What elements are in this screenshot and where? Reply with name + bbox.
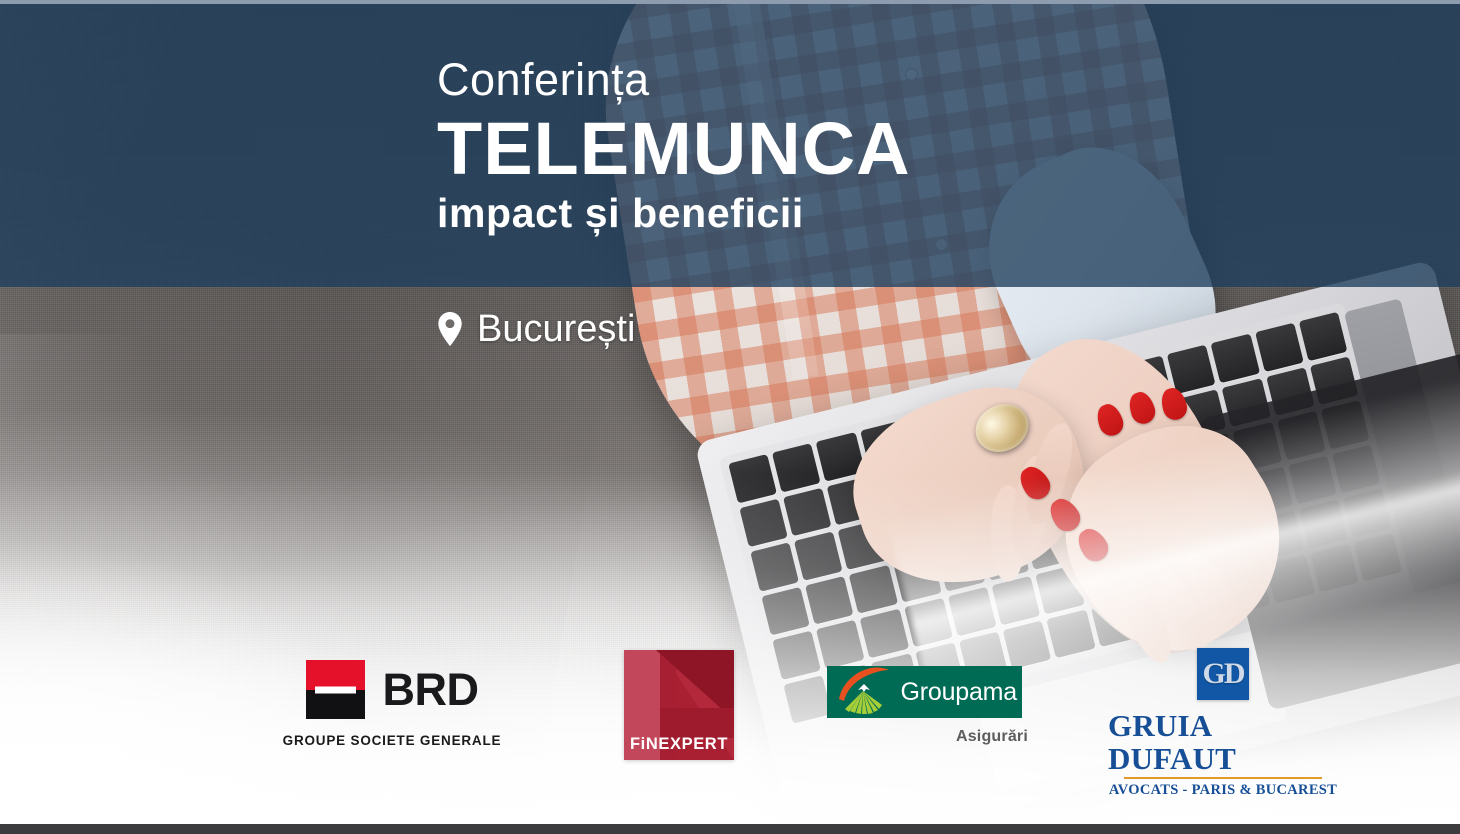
bottom-dark-strip xyxy=(0,824,1460,834)
sponsor-logo-row: BRD GROUPE SOCIETE GENERALE FiNEXPERT xyxy=(0,648,1460,788)
key xyxy=(948,587,997,636)
page-title: TELEMUNCA xyxy=(437,111,1460,186)
key xyxy=(783,487,832,536)
brd-wordmark: BRD xyxy=(383,667,479,712)
map-pin-icon xyxy=(437,312,463,346)
sponsor-gruia-dufaut[interactable]: GD GRUIA DUFAUT AVOCATS - PARIS & BUCARE… xyxy=(1108,648,1338,799)
key xyxy=(772,443,821,492)
event-kicker: Conferința xyxy=(437,56,1460,103)
brd-square-logo-icon xyxy=(306,660,365,719)
brd-tagline: GROUPE SOCIETE GENERALE xyxy=(283,733,502,748)
key xyxy=(750,542,799,591)
event-location: București xyxy=(437,310,635,348)
gd-monogram-logo-icon: GD xyxy=(1197,648,1249,700)
groupama-wordmark: Groupama xyxy=(901,680,1018,705)
event-subtitle: impact și beneficii xyxy=(437,192,1460,235)
key xyxy=(1299,312,1348,361)
key xyxy=(904,598,953,647)
key xyxy=(728,454,777,503)
groupama-wheat-bird-logo-icon xyxy=(835,669,893,715)
gd-monogram-text: GD xyxy=(1203,659,1244,689)
key xyxy=(794,531,843,580)
key xyxy=(739,498,788,547)
key xyxy=(992,576,1041,625)
sponsor-brd[interactable]: BRD GROUPE SOCIETE GENERALE xyxy=(242,648,542,748)
sponsor-groupama[interactable]: Groupama Asigurări xyxy=(814,648,1034,746)
key xyxy=(1211,334,1260,383)
conference-banner-poster: Conferința TELEMUNCA impact și beneficii… xyxy=(0,0,1460,834)
key xyxy=(761,586,810,635)
key xyxy=(1255,323,1304,372)
key xyxy=(805,575,854,624)
groupama-tagline: Asigurări xyxy=(956,728,1034,746)
title-banner: Conferința TELEMUNCA impact și beneficii xyxy=(0,4,1460,287)
location-label: București xyxy=(477,310,635,348)
gruia-dufaut-rule xyxy=(1124,777,1322,779)
finexpert-wordmark: FiNEXPERT xyxy=(624,735,734,754)
gruia-dufaut-wordmark: GRUIA DUFAUT xyxy=(1108,710,1338,775)
sponsor-finexpert[interactable]: FiNEXPERT xyxy=(604,648,754,760)
gruia-dufaut-tagline: AVOCATS - PARIS & BUCAREST xyxy=(1109,782,1337,799)
finexpert-square-logo-icon: FiNEXPERT xyxy=(624,650,734,760)
key xyxy=(849,565,898,614)
